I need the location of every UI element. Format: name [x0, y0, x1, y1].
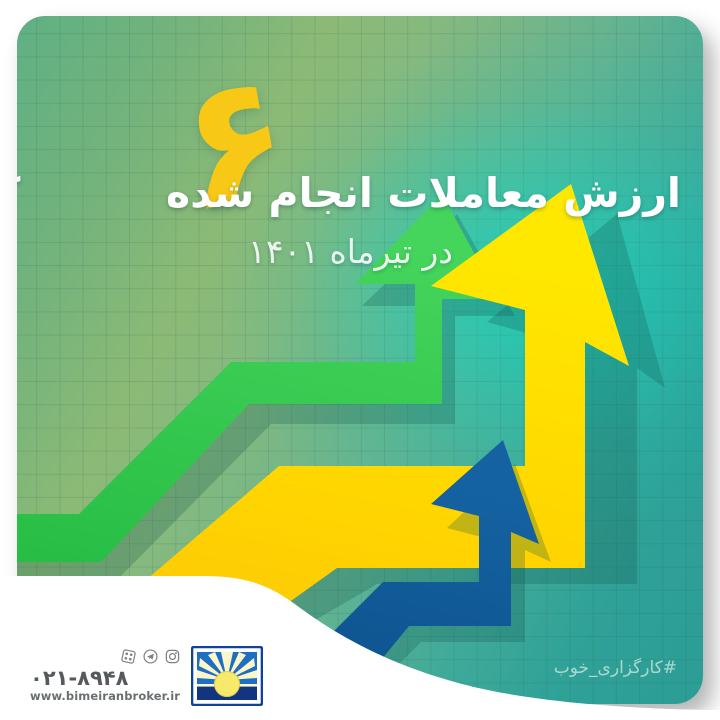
telegram-icon[interactable]: [143, 649, 158, 664]
poster-canvas: ۶ ارزش معاملات انجام شده کسب رتبه در تیر…: [0, 0, 720, 720]
headline-lead: کسب رتبه: [17, 172, 20, 215]
social-icons-row: [30, 648, 180, 665]
subtitle: در تیرماه ۱۴۰۱: [248, 234, 453, 270]
bimeh-iran-sun-logo[interactable]: [191, 646, 263, 706]
instagram-icon[interactable]: [165, 649, 180, 664]
page-title: ارزش معاملات انجام شده کسب رتبه: [67, 172, 681, 215]
website-url[interactable]: www.bimeiranbroker.ir: [30, 690, 180, 703]
brand-contact-info: ۰۲۱-۸۹۴۸ www.bimeiranbroker.ir: [30, 646, 180, 703]
headline-trail: ارزش معاملات انجام شده: [166, 172, 681, 215]
phone-number[interactable]: ۰۲۱-۸۹۴۸: [30, 667, 180, 689]
bale-icon[interactable]: [121, 649, 136, 664]
brand-footer: ۰۲۱-۸۹۴۸ www.bimeiranbroker.ir: [30, 646, 263, 706]
